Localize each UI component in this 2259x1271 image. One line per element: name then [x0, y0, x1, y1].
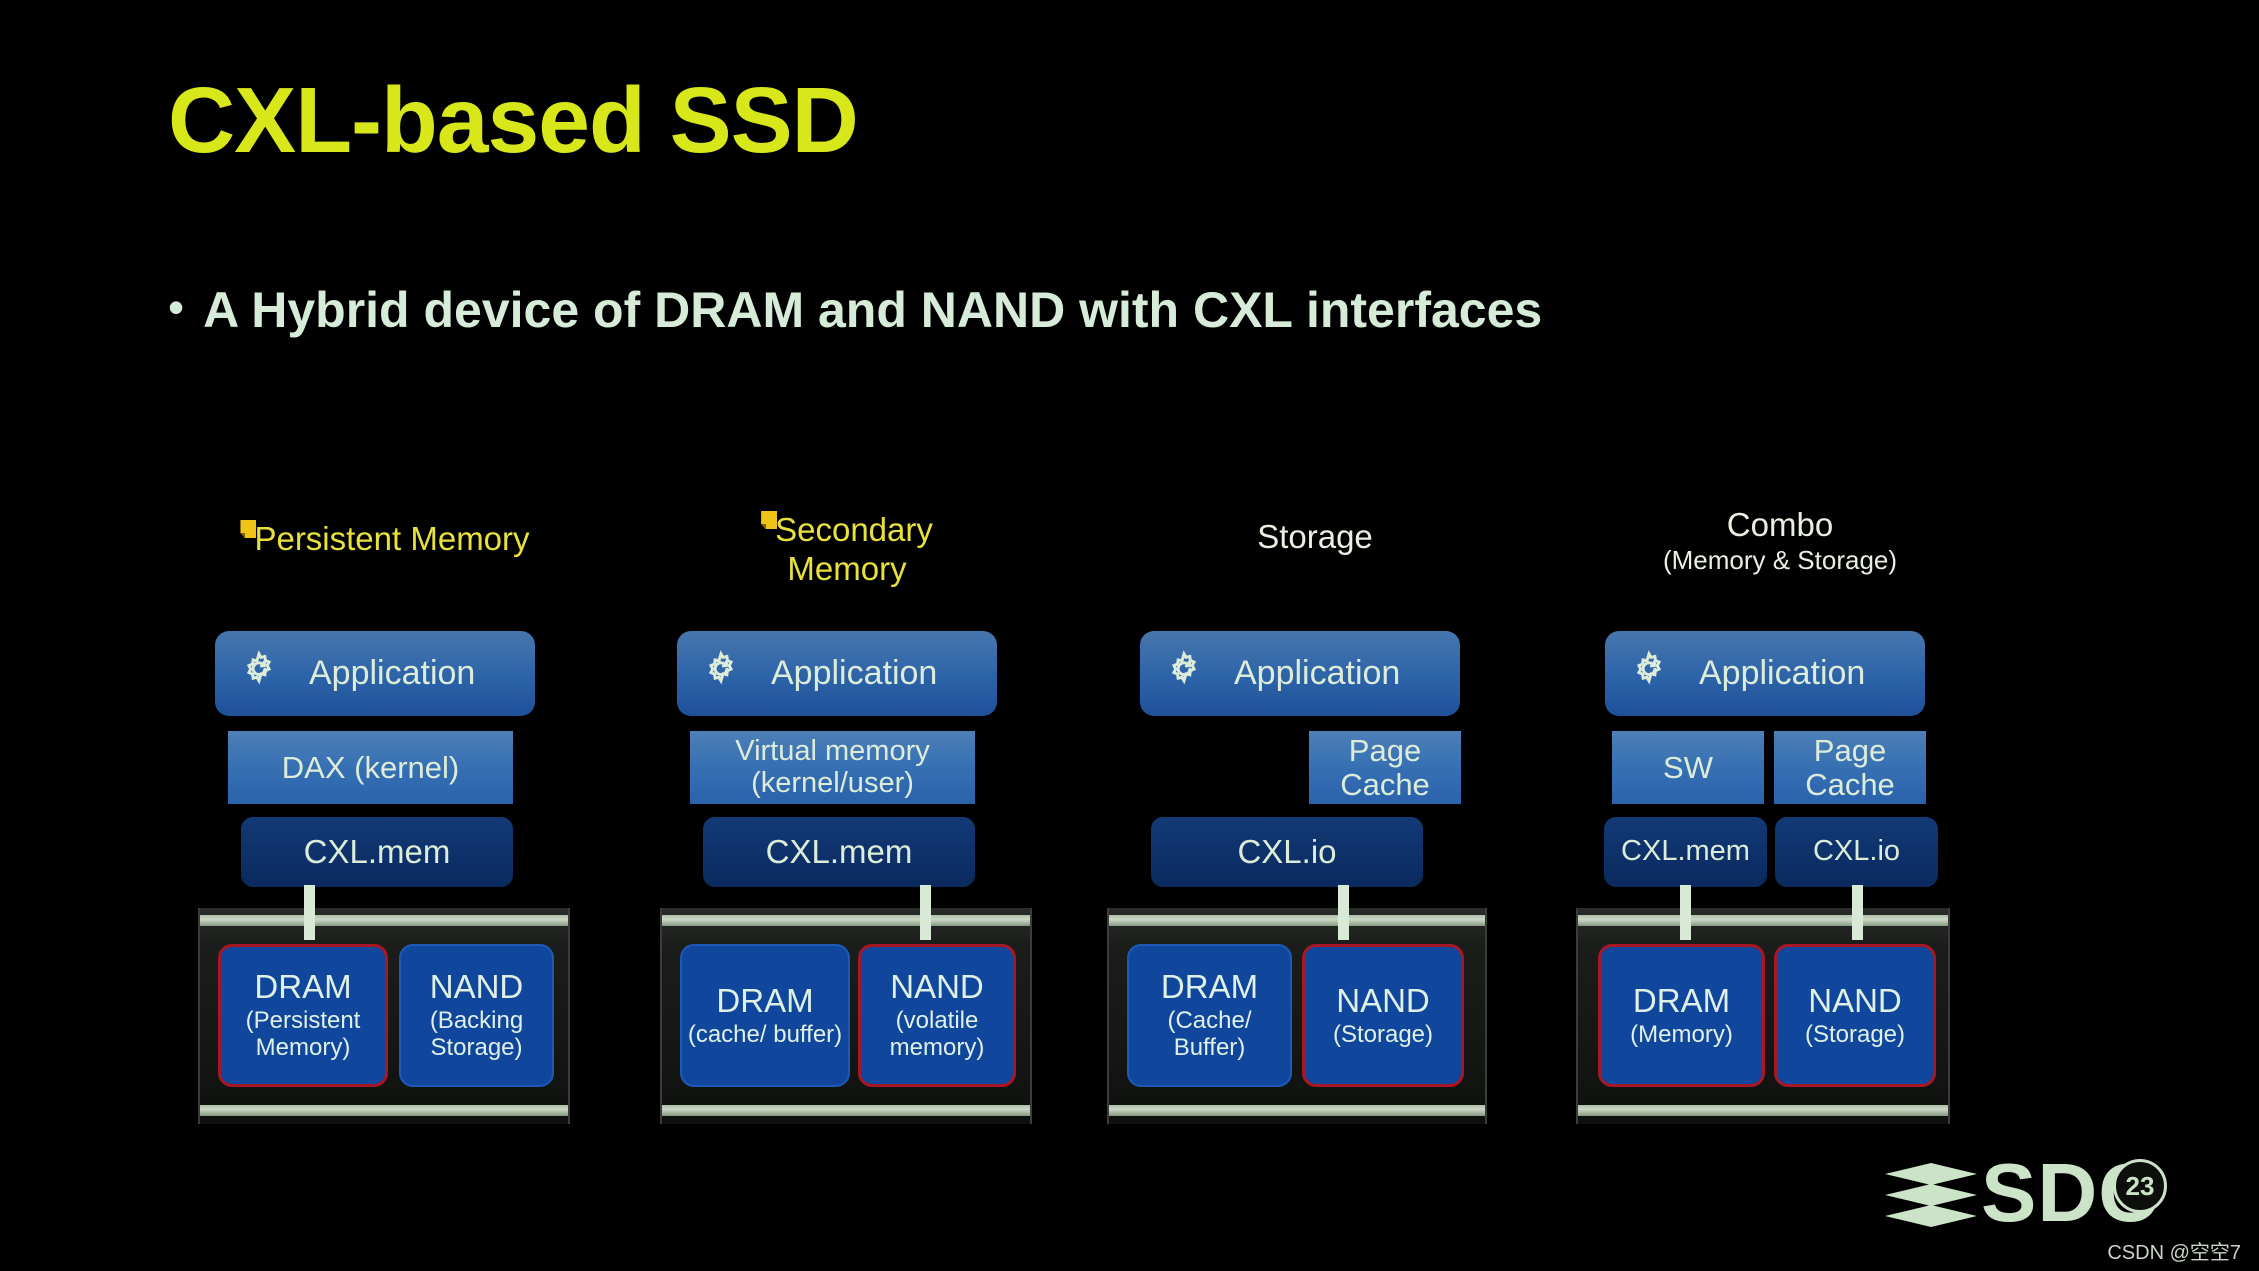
connector-line: [1338, 885, 1349, 940]
protocol-box[interactable]: CXL.mem: [703, 817, 975, 887]
application-box[interactable]: Application: [677, 631, 997, 716]
bullet-text: A Hybrid device of DRAM and NAND with CX…: [203, 285, 1542, 335]
application-label: Application: [1699, 655, 1865, 692]
chip-title: NAND: [1808, 983, 1902, 1020]
middle-layer-label: DAX (kernel): [282, 751, 459, 784]
middle-layer-box[interactable]: Virtual memory (kernel/user): [690, 731, 975, 804]
column-header: Combo (Memory & Storage): [1580, 508, 1980, 575]
protocol-label: CXL.mem: [304, 834, 451, 870]
note-icon: [240, 520, 256, 538]
application-label: Application: [309, 655, 475, 692]
diagram-column-persistent-memory: Persistent Memory Application DAX (kerne…: [190, 500, 580, 1140]
middle-layer-label: Virtual memory (kernel/user): [690, 736, 975, 799]
application-box[interactable]: Application: [1605, 631, 1925, 716]
column-header-label: Secondary: [775, 511, 933, 548]
chip-subtitle: (Memory): [1630, 1022, 1733, 1049]
gear-icon: [1627, 648, 1671, 700]
gear-icon: [1162, 648, 1206, 700]
memory-chip-nand[interactable]: NAND (volatile memory): [858, 944, 1016, 1087]
chip-subtitle: (Storage): [1805, 1022, 1905, 1049]
column-header-label: Persistent Memory: [254, 520, 529, 557]
csdn-watermark: CSDN @空空7: [2107, 1236, 2241, 1265]
chassis-top-bar: [200, 915, 568, 926]
middle-layer-box-sw[interactable]: SW: [1612, 731, 1764, 804]
protocol-box-cxl-mem[interactable]: CXL.mem: [1604, 817, 1767, 887]
memory-chip-nand[interactable]: NAND (Storage): [1774, 944, 1936, 1087]
device-chassis: DRAM (Cache/ Buffer) NAND (Storage): [1107, 908, 1487, 1124]
chip-subtitle: (Storage): [1333, 1022, 1433, 1049]
column-header: Persistent Memory: [190, 520, 580, 557]
column-header-label: Combo: [1727, 506, 1833, 543]
chassis-top-bar: [1109, 915, 1485, 926]
chip-subtitle: (cache/ buffer): [688, 1022, 842, 1049]
chassis-top-bar: [662, 915, 1030, 926]
protocol-label: CXL.io: [1813, 836, 1900, 867]
diagram-column-combo: Combo (Memory & Storage) Application SW …: [1580, 500, 1980, 1140]
chassis-bottom-bar: [200, 1105, 568, 1116]
bullet-line: • A Hybrid device of DRAM and NAND with …: [168, 285, 1542, 335]
page-title: CXL-based SSD: [168, 74, 858, 167]
protocol-box-cxl-io[interactable]: CXL.io: [1775, 817, 1938, 887]
memory-chip-nand[interactable]: NAND (Backing Storage): [399, 944, 554, 1087]
application-box[interactable]: Application: [1140, 631, 1460, 716]
connector-line: [920, 885, 931, 940]
chip-subtitle: (Cache/ Buffer): [1129, 1008, 1290, 1062]
connector-line-nand: [1852, 885, 1863, 940]
column-header: Storage: [1115, 520, 1515, 555]
device-chassis: DRAM (cache/ buffer) NAND (volatile memo…: [660, 908, 1032, 1124]
memory-chip-dram[interactable]: DRAM (Persistent Memory): [218, 944, 388, 1087]
chassis-bottom-bar: [1578, 1105, 1948, 1116]
middle-layer-box[interactable]: Page Cache: [1309, 731, 1461, 804]
note-icon: [761, 511, 777, 529]
memory-chip-dram[interactable]: DRAM (Memory): [1598, 944, 1765, 1087]
chip-title: DRAM: [254, 969, 351, 1006]
column-header-sub: (Memory & Storage): [1580, 547, 1980, 575]
middle-layer-box[interactable]: DAX (kernel): [228, 731, 513, 804]
sdc-year-badge: 23: [2113, 1159, 2167, 1213]
slide-canvas: CXL-based SSD • A Hybrid device of DRAM …: [0, 0, 2259, 1271]
application-label: Application: [771, 655, 937, 692]
device-chassis: DRAM (Memory) NAND (Storage): [1576, 908, 1950, 1124]
gear-icon: [237, 648, 281, 700]
memory-chip-nand[interactable]: NAND (Storage): [1302, 944, 1464, 1087]
middle-layer-label: Page Cache: [1774, 734, 1926, 801]
stacked-layers-icon: [1885, 1163, 1977, 1227]
diagram-column-storage: Storage Application Page Cache CXL.io: [1115, 500, 1515, 1140]
diagram-column-secondary-memory: Secondary Memory Application Virtual mem…: [652, 500, 1042, 1140]
middle-layer-label: Page Cache: [1309, 734, 1461, 801]
column-header: Secondary Memory: [652, 511, 1042, 587]
chassis-bottom-bar: [662, 1105, 1030, 1116]
chip-title: NAND: [890, 969, 984, 1006]
connector-line-dram: [1680, 885, 1691, 940]
device-chassis: DRAM (Persistent Memory) NAND (Backing S…: [198, 908, 570, 1124]
bullet-marker: •: [168, 284, 184, 330]
protocol-label: CXL.io: [1237, 834, 1336, 870]
connector-line: [304, 885, 315, 940]
memory-chip-dram[interactable]: DRAM (Cache/ Buffer): [1127, 944, 1292, 1087]
protocol-box[interactable]: CXL.io: [1151, 817, 1423, 887]
chip-title: DRAM: [1633, 983, 1730, 1020]
chip-subtitle: (Persistent Memory): [221, 1008, 385, 1062]
chip-subtitle: (volatile memory): [861, 1008, 1013, 1062]
column-header-sub: Memory: [652, 552, 1042, 587]
protocol-label: CXL.mem: [1621, 836, 1750, 867]
chip-title: NAND: [430, 969, 524, 1006]
column-header-label: Storage: [1257, 518, 1373, 555]
memory-chip-dram[interactable]: DRAM (cache/ buffer): [680, 944, 850, 1087]
chassis-top-bar: [1578, 915, 1948, 926]
chip-title: DRAM: [1161, 969, 1258, 1006]
protocol-label: CXL.mem: [766, 834, 913, 870]
application-label: Application: [1234, 655, 1400, 692]
chip-title: DRAM: [716, 983, 813, 1020]
application-box[interactable]: Application: [215, 631, 535, 716]
middle-layer-label: SW: [1663, 751, 1713, 784]
sdc-logo: SDC 23: [1885, 1155, 2185, 1240]
chip-subtitle: (Backing Storage): [401, 1008, 552, 1062]
middle-layer-box-page-cache[interactable]: Page Cache: [1774, 731, 1926, 804]
chip-title: NAND: [1336, 983, 1430, 1020]
chassis-bottom-bar: [1109, 1105, 1485, 1116]
gear-icon: [699, 648, 743, 700]
protocol-box[interactable]: CXL.mem: [241, 817, 513, 887]
